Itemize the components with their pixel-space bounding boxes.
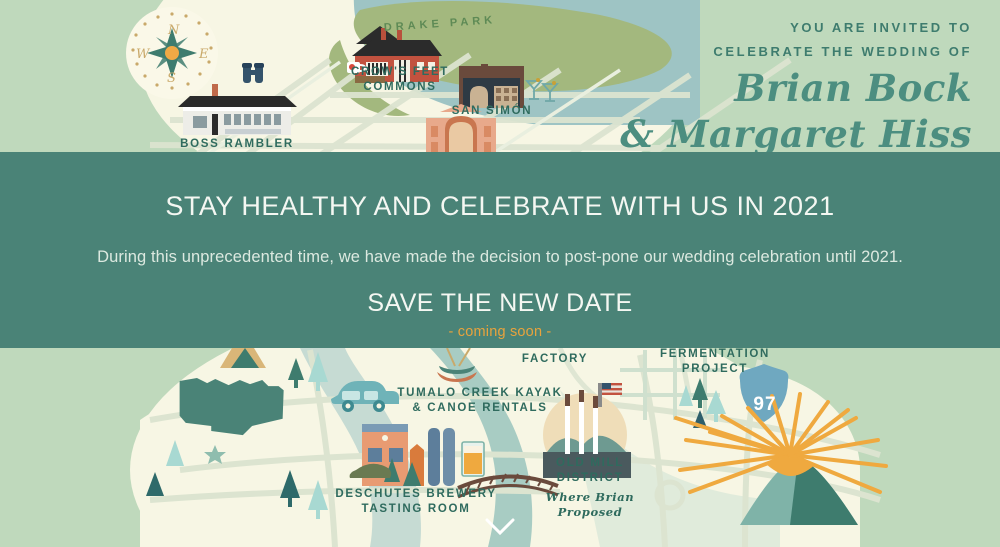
map-label-fermentation-project: FERMENTATION PROJECT (650, 347, 780, 377)
compass-north: N (167, 23, 180, 38)
map-label-highway-97: 97 (740, 392, 790, 417)
map-label-san-simon: SAN SIMÓN (437, 104, 547, 119)
beer-glass-icon (462, 442, 484, 476)
wedding-landing-page: N E S W (0, 0, 1000, 547)
invitation-name-2: & Margaret Hiss (552, 114, 972, 155)
banner-paragraph: During this unprecedented time, we have … (97, 248, 903, 267)
compass-south: S (167, 71, 176, 86)
map-label-factory: FACTORY (505, 352, 605, 367)
invitation-line-1: YOU ARE INVITED TO (552, 16, 972, 40)
compass-east: E (198, 47, 209, 62)
compass-west: W (136, 47, 151, 62)
invitation-line-2: CELEBRATE THE WEDDING OF (552, 40, 972, 64)
invitation-block: YOU ARE INVITED TO CELEBRATE THE WEDDING… (552, 16, 972, 155)
announcement-banner: STAY HEALTHY AND CELEBRATE WITH US IN 20… (0, 152, 1000, 348)
invitation-name-1: Brian Bock (552, 68, 972, 109)
banner-subheading: SAVE THE NEW DATE (367, 289, 632, 318)
map-label-crows-feet-commons: CROW'S FEET COMMONS (345, 65, 455, 95)
map-label-deschutes-brewery: DESCHUTES BREWERY TASTING ROOM (326, 487, 506, 517)
banner-status: - coming soon - (449, 324, 552, 340)
map-label-old-mill-district: OLD MILL DISTRICT (540, 456, 640, 486)
banner-heading: STAY HEALTHY AND CELEBRATE WITH US IN 20… (165, 192, 834, 222)
compass-rose: N E S W (126, 7, 218, 99)
map-label-tumalo-creek: TUMALO CREEK KAYAK & CANOE RENTALS (380, 386, 580, 416)
map-label-old-mill-note: Where Brian Proposed (530, 490, 650, 520)
